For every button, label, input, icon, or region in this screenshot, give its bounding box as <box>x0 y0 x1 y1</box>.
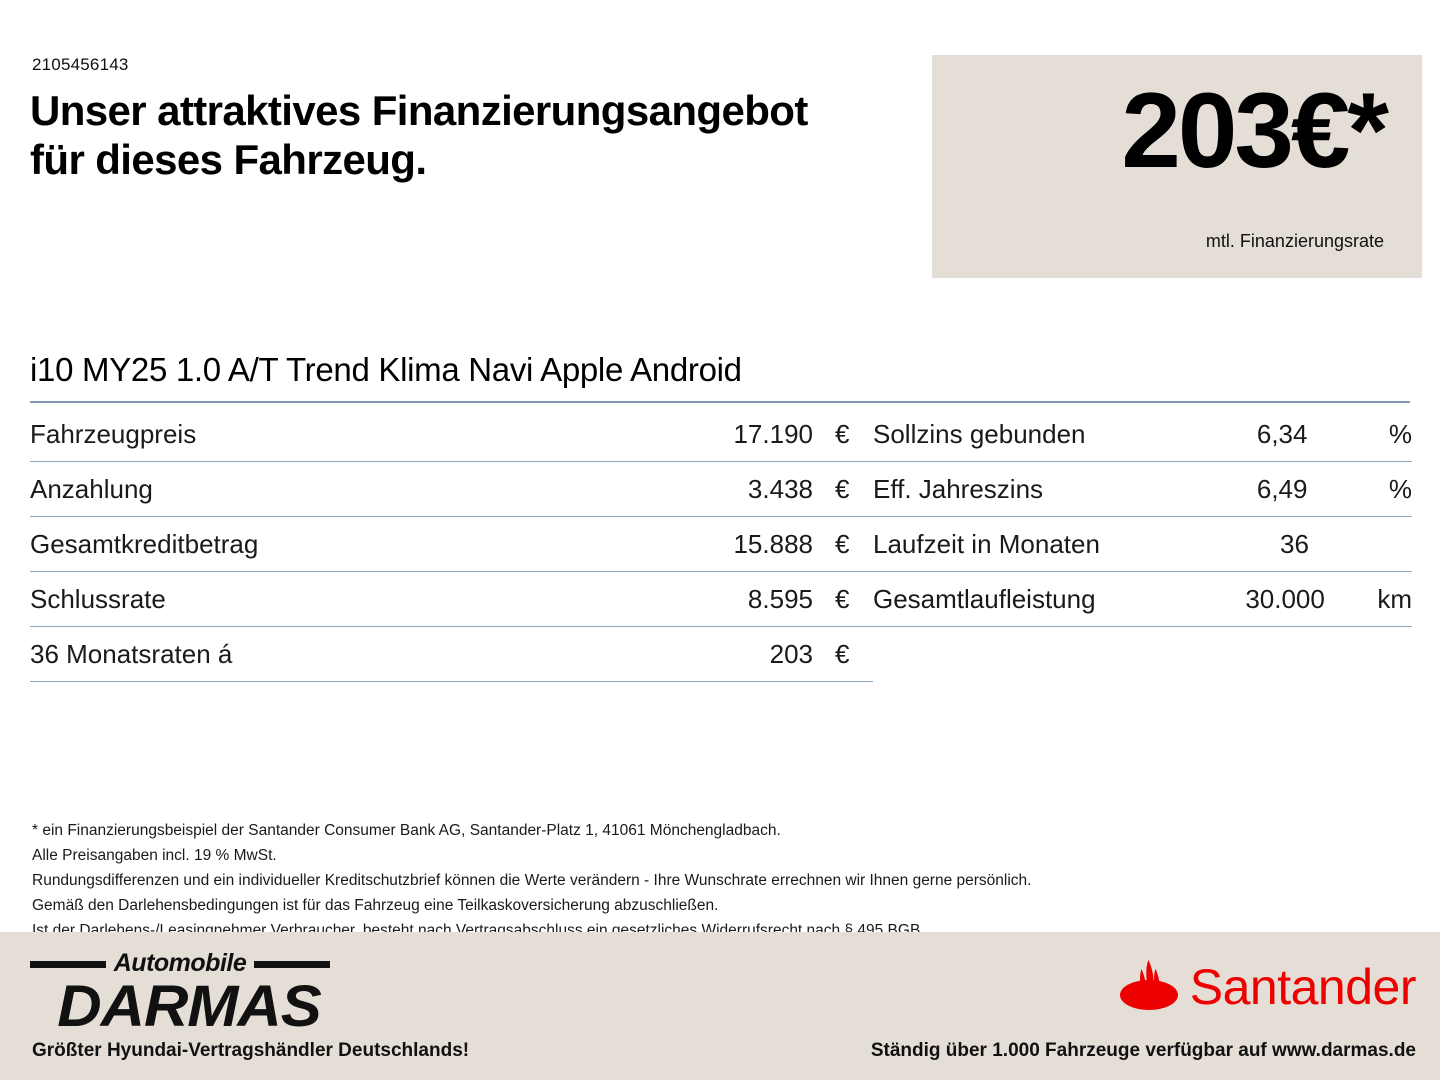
page-title-line-2: für dieses Fahrzeug. <box>30 135 910 184</box>
spec-item-schlussrate: Schlussrate 8.595 € <box>30 572 873 627</box>
spec-label: 36 Monatsraten á <box>30 627 643 681</box>
spec-value: 6,34 <box>1229 407 1389 461</box>
dealer-logo-top-word: Automobile <box>114 951 247 976</box>
spec-unit: € <box>813 627 873 681</box>
table-row: Anzahlung 3.438 € Eff. Jahreszins 6,49 % <box>30 462 1412 517</box>
spec-label: Laufzeit in Monaten <box>873 517 1252 571</box>
spec-label: Sollzins gebunden <box>873 407 1229 461</box>
dealer-logo-main-word: DARMAS <box>30 977 348 1036</box>
spec-item-sollzins-gebunden: Sollzins gebunden 6,34 % <box>873 407 1412 462</box>
spec-value: 8.595 <box>643 572 813 626</box>
table-row: Schlussrate 8.595 € Gesamtlaufleistung 3… <box>30 572 1412 627</box>
spec-item-empty <box>873 627 1412 682</box>
spec-value: 17.190 <box>643 407 813 461</box>
santander-flame-icon <box>1118 957 1180 1018</box>
spec-item-gesamtlaufleistung: Gesamtlaufleistung 30.000 km <box>873 572 1412 627</box>
spec-value: 3.438 <box>643 462 813 516</box>
spec-label: Anzahlung <box>30 462 643 516</box>
table-row: 36 Monatsraten á 203 € <box>30 627 1412 682</box>
spec-unit: km <box>1377 572 1412 626</box>
table-row: Gesamtkreditbetrag 15.888 € Laufzeit in … <box>30 517 1412 572</box>
spec-value: 36 <box>1252 517 1412 571</box>
page-title-line-1: Unser attraktives Finanzierungsangebot <box>30 86 910 135</box>
spec-item-laufzeit-in-monaten: Laufzeit in Monaten 36 <box>873 517 1412 572</box>
spec-item-fahrzeugpreis: Fahrzeugpreis 17.190 € <box>30 407 873 462</box>
dealer-logo-top-row: Automobile <box>30 950 330 976</box>
spec-unit: € <box>813 572 873 626</box>
spec-label: Schlussrate <box>30 572 643 626</box>
spec-unit: € <box>813 407 873 461</box>
monthly-rate-caption: mtl. Finanzierungsrate <box>1206 231 1384 252</box>
monthly-rate-amount: 203€* <box>1121 77 1386 184</box>
logo-rule-right-icon <box>254 961 330 968</box>
spec-unit: € <box>813 462 873 516</box>
dealer-logo: Automobile DARMAS <box>30 950 330 1022</box>
offer-reference-number: 2105456143 <box>32 55 129 75</box>
financing-details-table: Fahrzeugpreis 17.190 € Sollzins gebunden… <box>30 407 1412 682</box>
spec-value: 15.888 <box>643 517 813 571</box>
disclaimer-text: * ein Finanzierungsbeispiel der Santande… <box>32 818 1402 944</box>
disclaimer-line-2: Alle Preisangaben incl. 19 % MwSt. <box>32 843 1402 868</box>
spec-item-gesamtkreditbetrag: Gesamtkreditbetrag 15.888 € <box>30 517 873 572</box>
spec-unit: % <box>1389 462 1412 516</box>
vehicle-title: i10 MY25 1.0 A/T Trend Klima Navi Apple … <box>30 351 1410 403</box>
page-title: Unser attraktives Finanzierungsangebot f… <box>30 86 910 184</box>
santander-logo: Santander <box>1118 956 1416 1018</box>
spec-label: Gesamtkreditbetrag <box>30 517 643 571</box>
spec-unit: % <box>1389 407 1412 461</box>
monthly-rate-highlight-box: 203€* mtl. Finanzierungsrate <box>932 55 1422 278</box>
bank-tagline: Ständig über 1.000 Fahrzeuge verfügbar a… <box>871 1040 1416 1062</box>
disclaimer-line-3: Rundungsdifferenzen und ein individuelle… <box>32 868 1402 893</box>
spec-value: 203 <box>643 627 813 681</box>
dealer-tagline: Größter Hyundai-Vertragshändler Deutschl… <box>32 1040 469 1062</box>
spec-label: Eff. Jahreszins <box>873 462 1229 516</box>
santander-wordmark: Santander <box>1190 962 1416 1012</box>
spec-label: Fahrzeugpreis <box>30 407 643 461</box>
spec-unit: € <box>813 517 873 571</box>
spec-item-eff-jahreszins: Eff. Jahreszins 6,49 % <box>873 462 1412 517</box>
disclaimer-line-4: Gemäß den Darlehensbedingungen ist für d… <box>32 893 1402 918</box>
document-footer: Automobile DARMAS Größter Hyundai-Vertra… <box>0 932 1440 1080</box>
disclaimer-line-1: * ein Finanzierungsbeispiel der Santande… <box>32 818 1402 843</box>
spec-value: 30.000 <box>1217 572 1377 626</box>
logo-rule-left-icon <box>30 961 106 968</box>
table-row: Fahrzeugpreis 17.190 € Sollzins gebunden… <box>30 407 1412 462</box>
spec-item-36-monatsraten: 36 Monatsraten á 203 € <box>30 627 873 682</box>
spec-value: 6,49 <box>1229 462 1389 516</box>
spec-item-anzahlung: Anzahlung 3.438 € <box>30 462 873 517</box>
spec-label: Gesamtlaufleistung <box>873 572 1217 626</box>
